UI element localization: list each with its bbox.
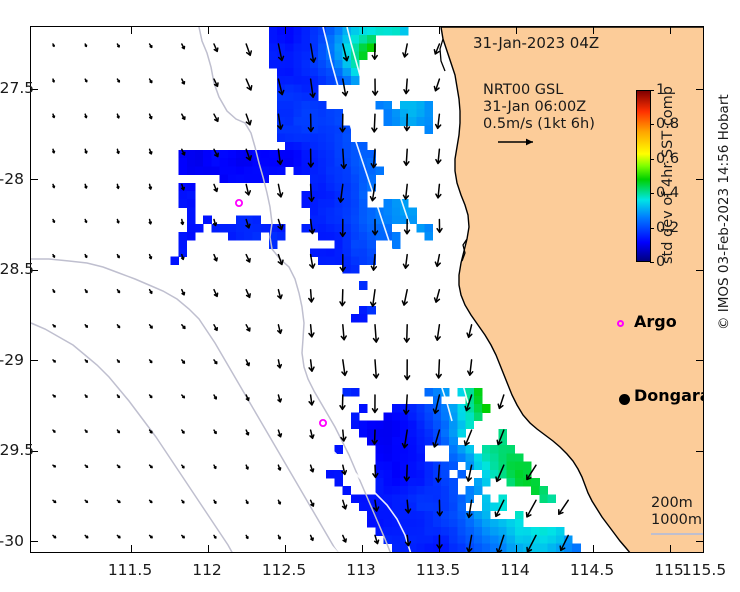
xtick-label-5: 114: [475, 561, 555, 579]
xtick-top-112.5: [285, 27, 286, 34]
depth-legend-line: [651, 533, 703, 535]
xtick-label-0: 111.5: [90, 561, 170, 579]
ytick-label-2: -28.5: [0, 260, 24, 278]
cbar-tick-1: [650, 90, 654, 91]
xtick-top-113: [362, 27, 363, 34]
ytick-label-3: -29: [0, 351, 24, 369]
xtick-bot-114.5: [593, 545, 594, 552]
ytick-right-29: [696, 360, 703, 361]
colorbar-title-wrapper: std dev of 4hr SST comp: [660, 0, 676, 88]
xtick-bot-113: [362, 545, 363, 552]
argo-legend-label: Argo: [634, 312, 677, 331]
quiver-scale-arrow: [497, 135, 543, 149]
xtick-label-1: 112: [167, 561, 247, 579]
map-graphics: [31, 27, 703, 552]
xtick-top-114.5: [593, 27, 594, 34]
timestamp-annotation: 31-Jan-2023 04Z: [473, 35, 599, 53]
ytick-right-27.5: [696, 89, 703, 90]
xtick-bot-113.5: [439, 545, 440, 552]
ytick-label-1: -28: [0, 170, 24, 188]
xtick-bot-115: [670, 545, 671, 552]
xtick-bot-112.5: [285, 545, 286, 552]
dongara-label: Dongara: [634, 386, 703, 405]
current-validtime-label: 31-Jan 06:00Z: [483, 99, 586, 117]
xtick-bot-112: [208, 545, 209, 552]
xtick-label-4: 113.5: [398, 561, 478, 579]
ytick-right-28.5: [696, 270, 703, 271]
xtick-top-111.5: [131, 27, 132, 34]
ytick-right-28: [696, 179, 703, 180]
xtick-label-2: 112.5: [244, 561, 324, 579]
map-clip: 31-Jan-2023 04Z NRT00 GSL 31-Jan 06:00Z …: [31, 27, 703, 552]
xtick-label-3: 113: [321, 561, 401, 579]
current-source-label: NRT00 GSL: [483, 82, 563, 100]
cbar-tick-0.2: [650, 228, 654, 229]
cbar-tick-0: [650, 262, 654, 263]
colorbar-title: std dev of 4hr SST comp: [660, 88, 676, 264]
depth-legend-200m: 200m: [651, 495, 693, 512]
ytick-label-0: -27.5: [0, 79, 24, 97]
copyright-label: © IMOS 03-Feb-2023 14:56 Hobart: [716, 94, 732, 330]
ytick-right-29.5: [696, 451, 703, 452]
cbar-tick-0.6: [650, 159, 654, 160]
xtick-top-113.5: [439, 27, 440, 34]
ytick-left-30: [31, 541, 38, 542]
xtick-top-112: [208, 27, 209, 34]
depth-legend-1000m: 1000m: [651, 512, 702, 529]
ytick-left-29: [31, 360, 38, 361]
ytick-label-4: -29.5: [0, 441, 24, 459]
xtick-label-8: 115.5: [664, 561, 740, 579]
argo-legend-marker: [617, 320, 624, 327]
dongara-marker: [619, 394, 630, 405]
ytick-left-28: [31, 179, 38, 180]
cbar-tick-0.8: [650, 124, 654, 125]
xtick-bot-111.5: [131, 545, 132, 552]
current-scale-label: 0.5m/s (1kt 6h): [483, 116, 595, 134]
xtick-top-114: [516, 27, 517, 34]
colorbar-gradient: [636, 90, 651, 262]
xtick-label-6: 114.5: [552, 561, 632, 579]
map-plot-area[interactable]: 31-Jan-2023 04Z NRT00 GSL 31-Jan 06:00Z …: [30, 26, 704, 553]
cbar-tick-0.4: [650, 193, 654, 194]
figure-canvas: 31-Jan-2023 04Z NRT00 GSL 31-Jan 06:00Z …: [0, 0, 740, 592]
ytick-label-5: -30: [0, 532, 24, 550]
xtick-bot-114: [516, 545, 517, 552]
ytick-right-30: [696, 541, 703, 542]
